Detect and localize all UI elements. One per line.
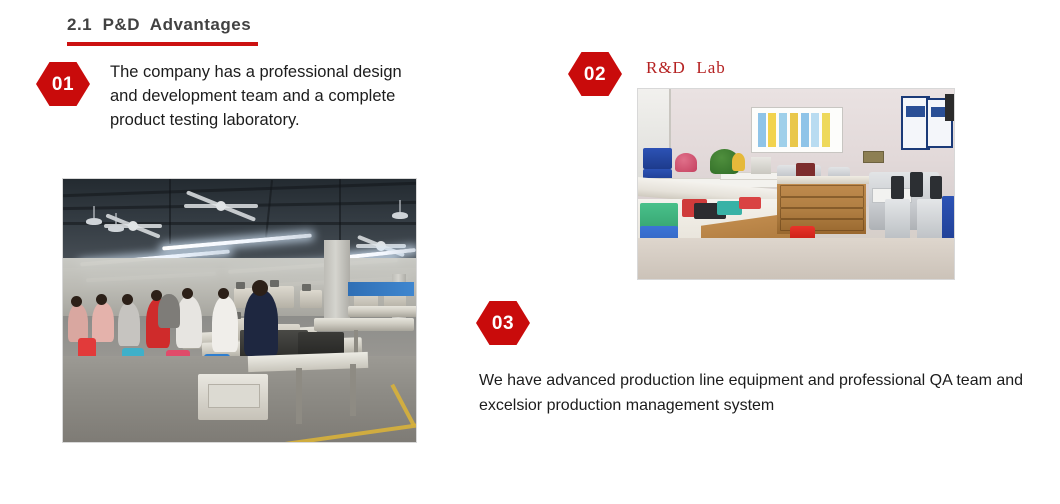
item-01-text: The company has a professional design an… <box>110 60 422 132</box>
cabinet-drawer <box>780 208 864 219</box>
flower-vase <box>732 153 745 170</box>
ceiling-beam <box>339 178 341 248</box>
badge-01: 01 <box>36 62 90 106</box>
page-title: 2.1 P&D Advantages <box>67 15 251 35</box>
bench-leg <box>350 364 356 416</box>
worker-head <box>122 294 133 305</box>
worker-head <box>182 288 193 299</box>
title-underline-rule <box>67 42 258 46</box>
rd-lab-photo <box>637 88 955 280</box>
badge-02-label: 02 <box>584 65 606 84</box>
microscope <box>930 176 943 199</box>
bench-leg <box>296 368 302 424</box>
wall-chart <box>751 107 842 153</box>
badge-01-label: 01 <box>52 75 74 94</box>
cabinet-drawer <box>780 185 864 196</box>
blue-storage-box <box>643 148 672 169</box>
sewing-machine <box>300 290 322 308</box>
cabinet-top <box>777 176 872 184</box>
worker <box>212 296 238 352</box>
wall-fixture <box>863 151 884 163</box>
badge-02: 02 <box>568 52 622 96</box>
microscope <box>910 172 923 197</box>
worker <box>158 294 180 328</box>
pendant-light <box>86 218 102 225</box>
microscope-stand <box>885 199 910 241</box>
lab-bottle <box>751 157 770 174</box>
rd-lab-label: R&D Lab <box>646 58 726 78</box>
flower-vase <box>675 153 697 172</box>
ceiling-beam <box>169 178 171 244</box>
worker-head <box>96 294 107 305</box>
wall-panel <box>945 94 955 121</box>
ceiling-fan <box>184 200 258 211</box>
worker <box>244 290 278 356</box>
worker <box>92 302 114 342</box>
factory-pillar <box>324 240 350 318</box>
worker-head <box>252 280 268 296</box>
work-bench <box>314 318 414 331</box>
factory-photo <box>62 178 417 443</box>
pendant-light <box>108 225 124 232</box>
worker-head <box>71 296 82 307</box>
pendant-light <box>392 212 408 219</box>
fabric-swatch <box>739 197 761 209</box>
badge-03-label: 03 <box>492 314 514 333</box>
cabinet-drawer <box>780 197 864 208</box>
lab-floor <box>637 238 955 280</box>
worker-head <box>218 288 229 299</box>
work-bench <box>348 306 417 317</box>
microscope <box>891 176 904 199</box>
blue-signage <box>348 282 414 296</box>
cart-panel <box>208 384 260 408</box>
badge-03: 03 <box>476 301 530 345</box>
worker <box>118 302 140 346</box>
worker <box>68 304 88 342</box>
item-03-text: We have advanced production line equipme… <box>479 368 1024 418</box>
